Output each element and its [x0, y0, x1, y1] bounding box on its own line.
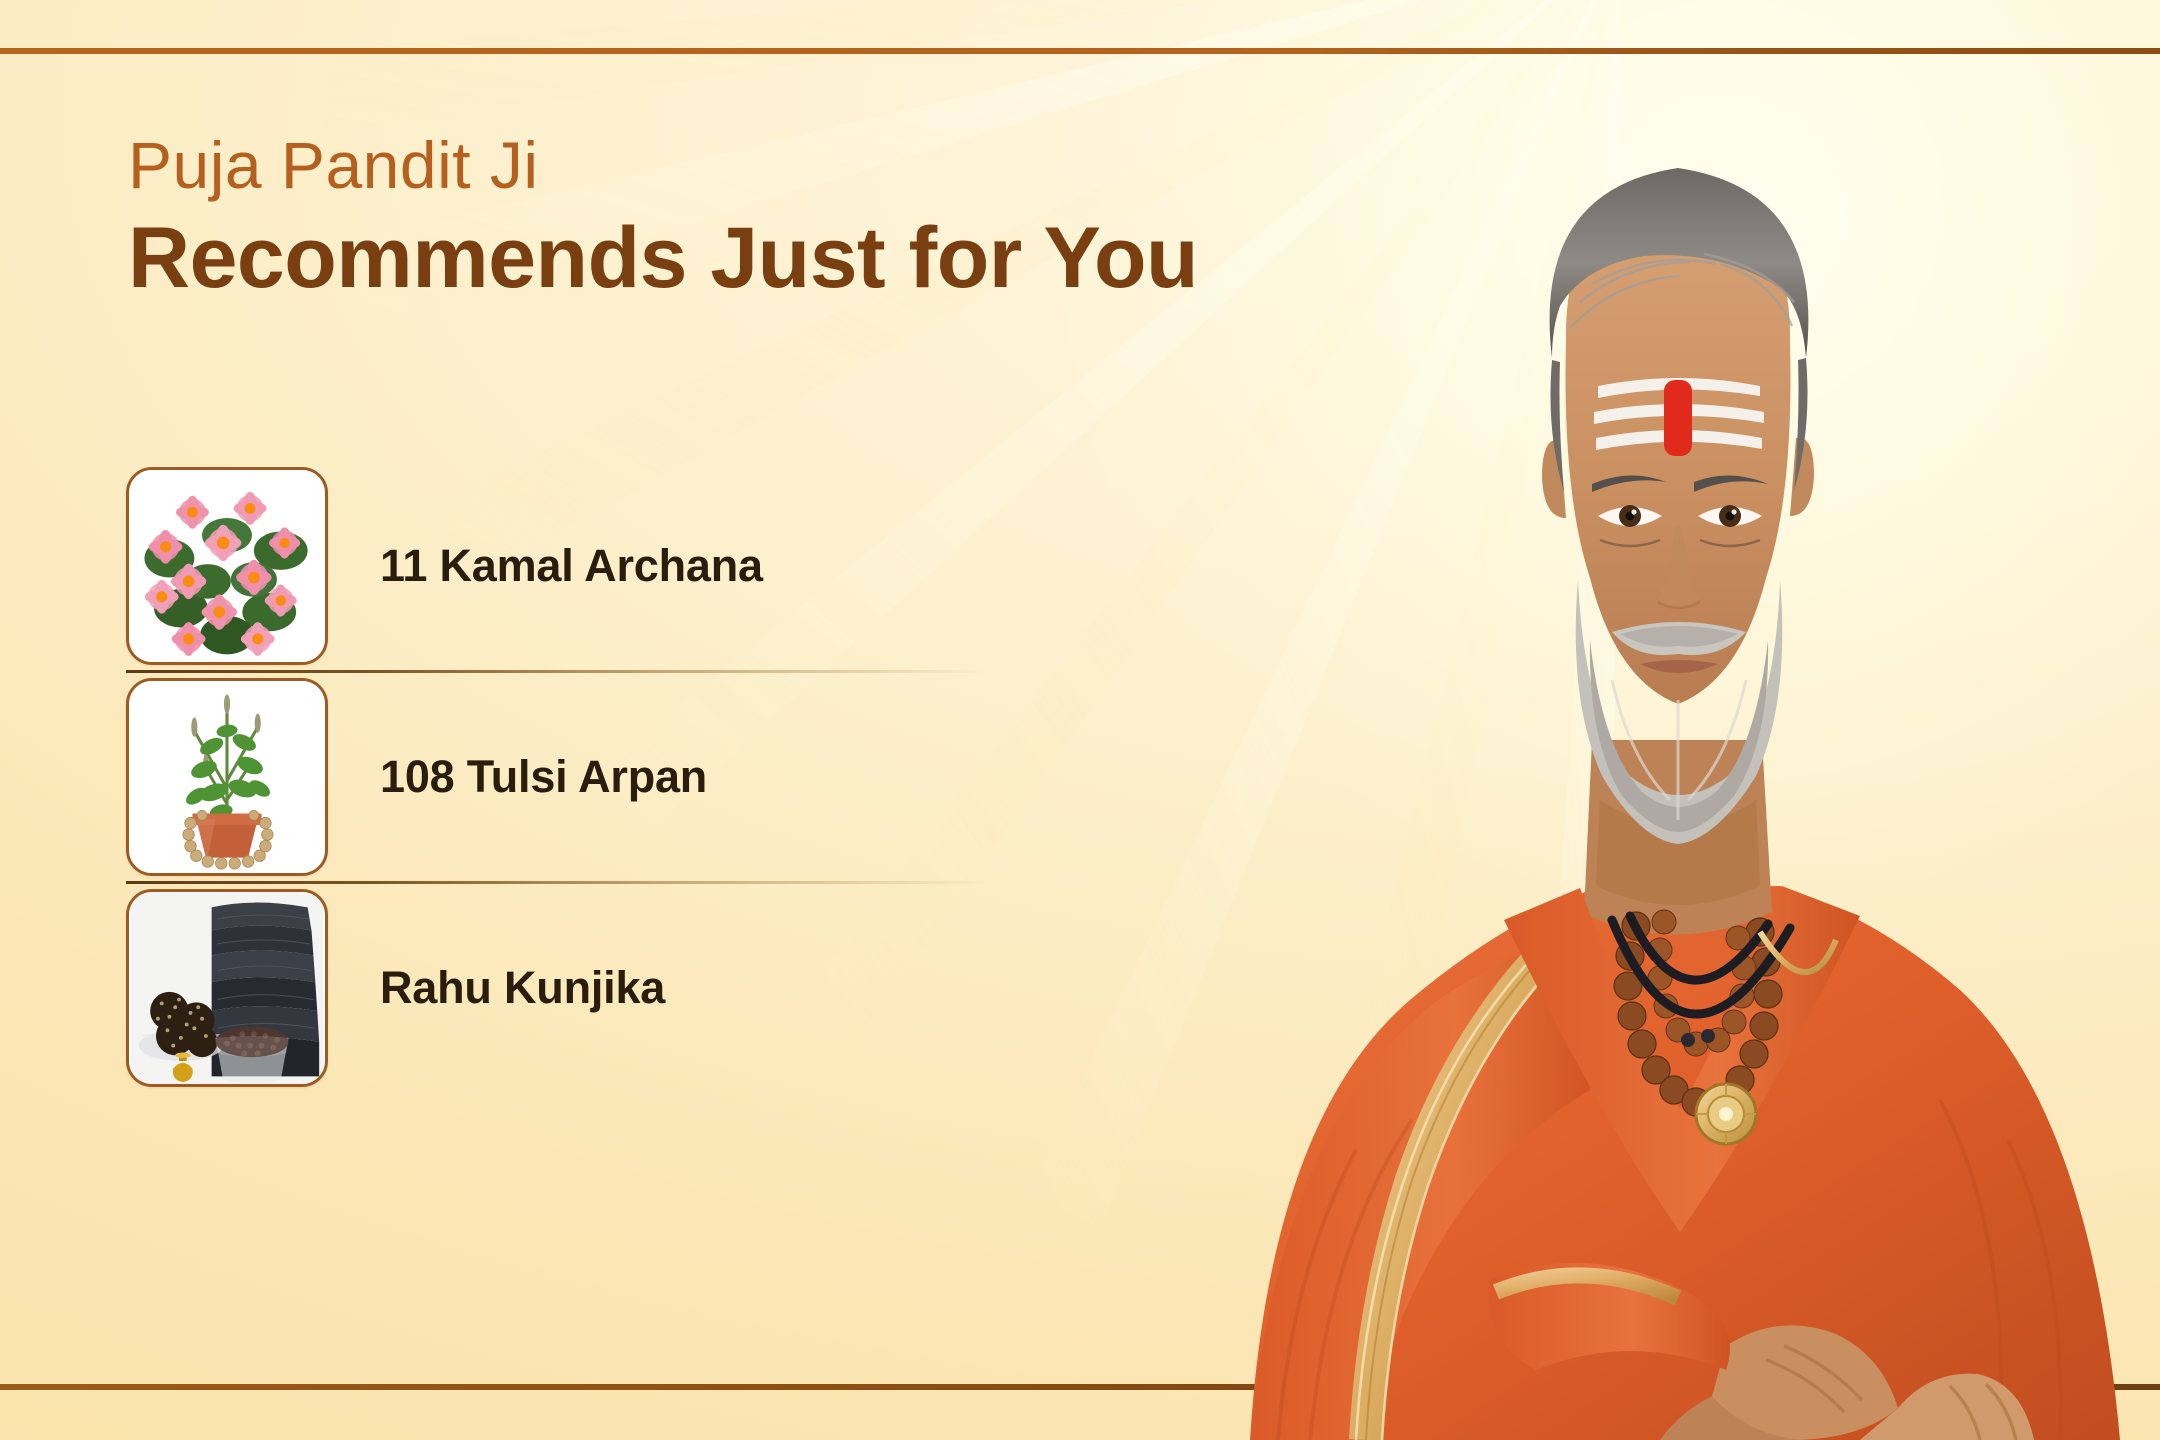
list-item-label: Rahu Kunjika [380, 962, 665, 1014]
tulsi-plant-thumbnail[interactable] [126, 678, 328, 876]
lotus-flowers-thumbnail[interactable] [126, 467, 328, 665]
black-sesame-cloth-thumbnail[interactable] [126, 889, 328, 1087]
page-title: Recommends Just for You [128, 213, 1528, 303]
list-item[interactable]: 108 Tulsi Arpan [126, 673, 986, 881]
bottom-rule [0, 1384, 2160, 1390]
kicker-text: Puja Pandit Ji [128, 132, 1528, 199]
lotus-icon [129, 470, 325, 662]
recommendation-list: 11 Kamal Archana [126, 462, 986, 1092]
tulsi-plant-icon [129, 681, 325, 873]
list-item[interactable]: Rahu Kunjika [126, 884, 986, 1092]
black-offerings-icon [129, 892, 325, 1084]
headline-block: Puja Pandit Ji Recommends Just for You [128, 132, 1528, 304]
list-item[interactable]: 11 Kamal Archana [126, 462, 986, 670]
list-item-label: 108 Tulsi Arpan [380, 751, 707, 803]
top-rule [0, 48, 2160, 54]
promo-banner: Puja Pandit Ji Recommends Just for You [0, 0, 2160, 1440]
list-item-label: 11 Kamal Archana [380, 540, 763, 592]
